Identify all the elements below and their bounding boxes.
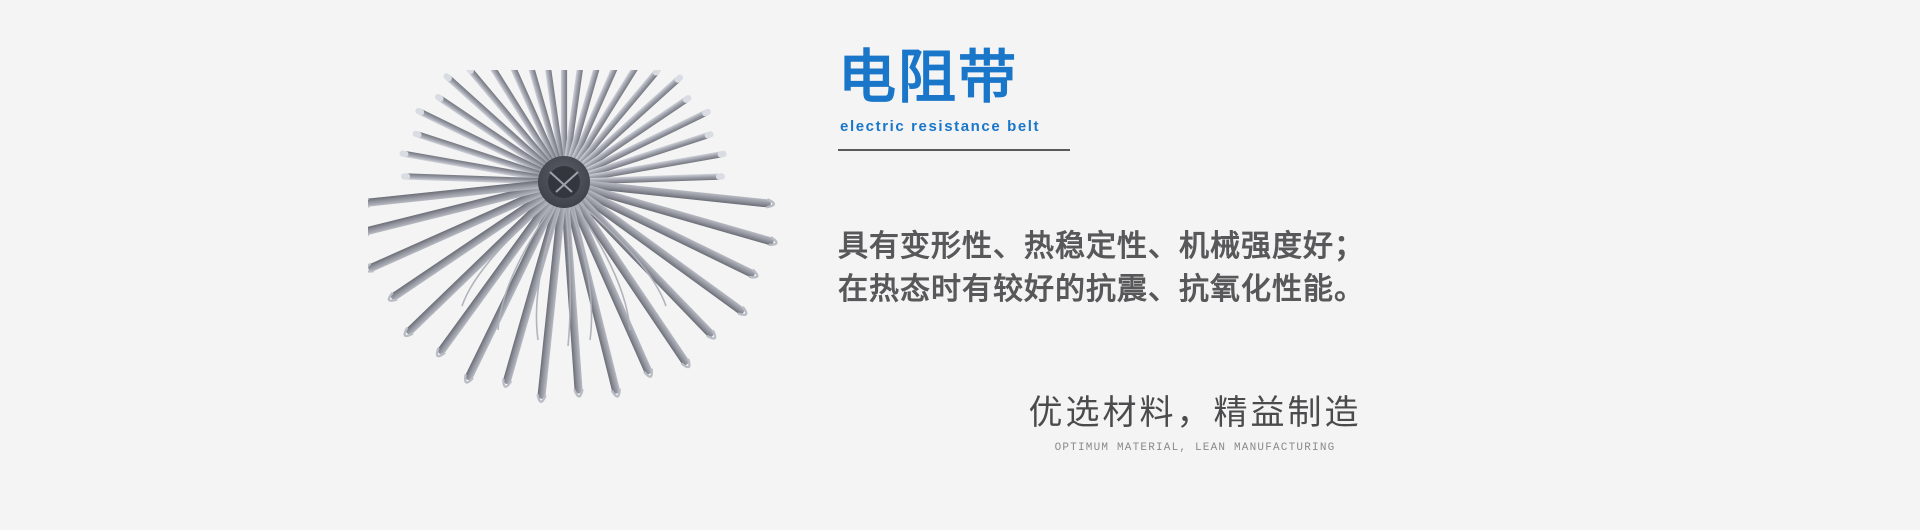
description-block: 具有变形性、热稳定性、机械强度好； 在热态时有较好的抗震、抗氧化性能。 [838,225,1478,311]
slogan-chinese: 优选材料，精益制造 [955,392,1435,436]
title-divider [838,149,1070,151]
heading-block: 电阻带 electric resistance belt [838,48,1458,151]
slogan-english: OPTIMUM MATERIAL, LEAN MANUFACTURING [955,440,1435,456]
text-content: 电阻带 electric resistance belt 具有变形性、热稳定性、… [838,0,1838,530]
description-line-2: 在热态时有较好的抗震、抗氧化性能。 [838,268,1478,311]
resistance-belt-illustration [368,70,798,410]
page-title: 电阻带 [838,48,1458,108]
slogan-block: 优选材料，精益制造 OPTIMUM MATERIAL, LEAN MANUFAC… [955,392,1435,456]
product-banner: 电阻带 electric resistance belt 具有变形性、热稳定性、… [0,0,1920,530]
product-image-stage [368,70,798,410]
description-line-1: 具有变形性、热稳定性、机械强度好； [838,225,1478,268]
product-image [368,70,798,410]
page-subtitle: electric resistance belt [840,118,1458,135]
